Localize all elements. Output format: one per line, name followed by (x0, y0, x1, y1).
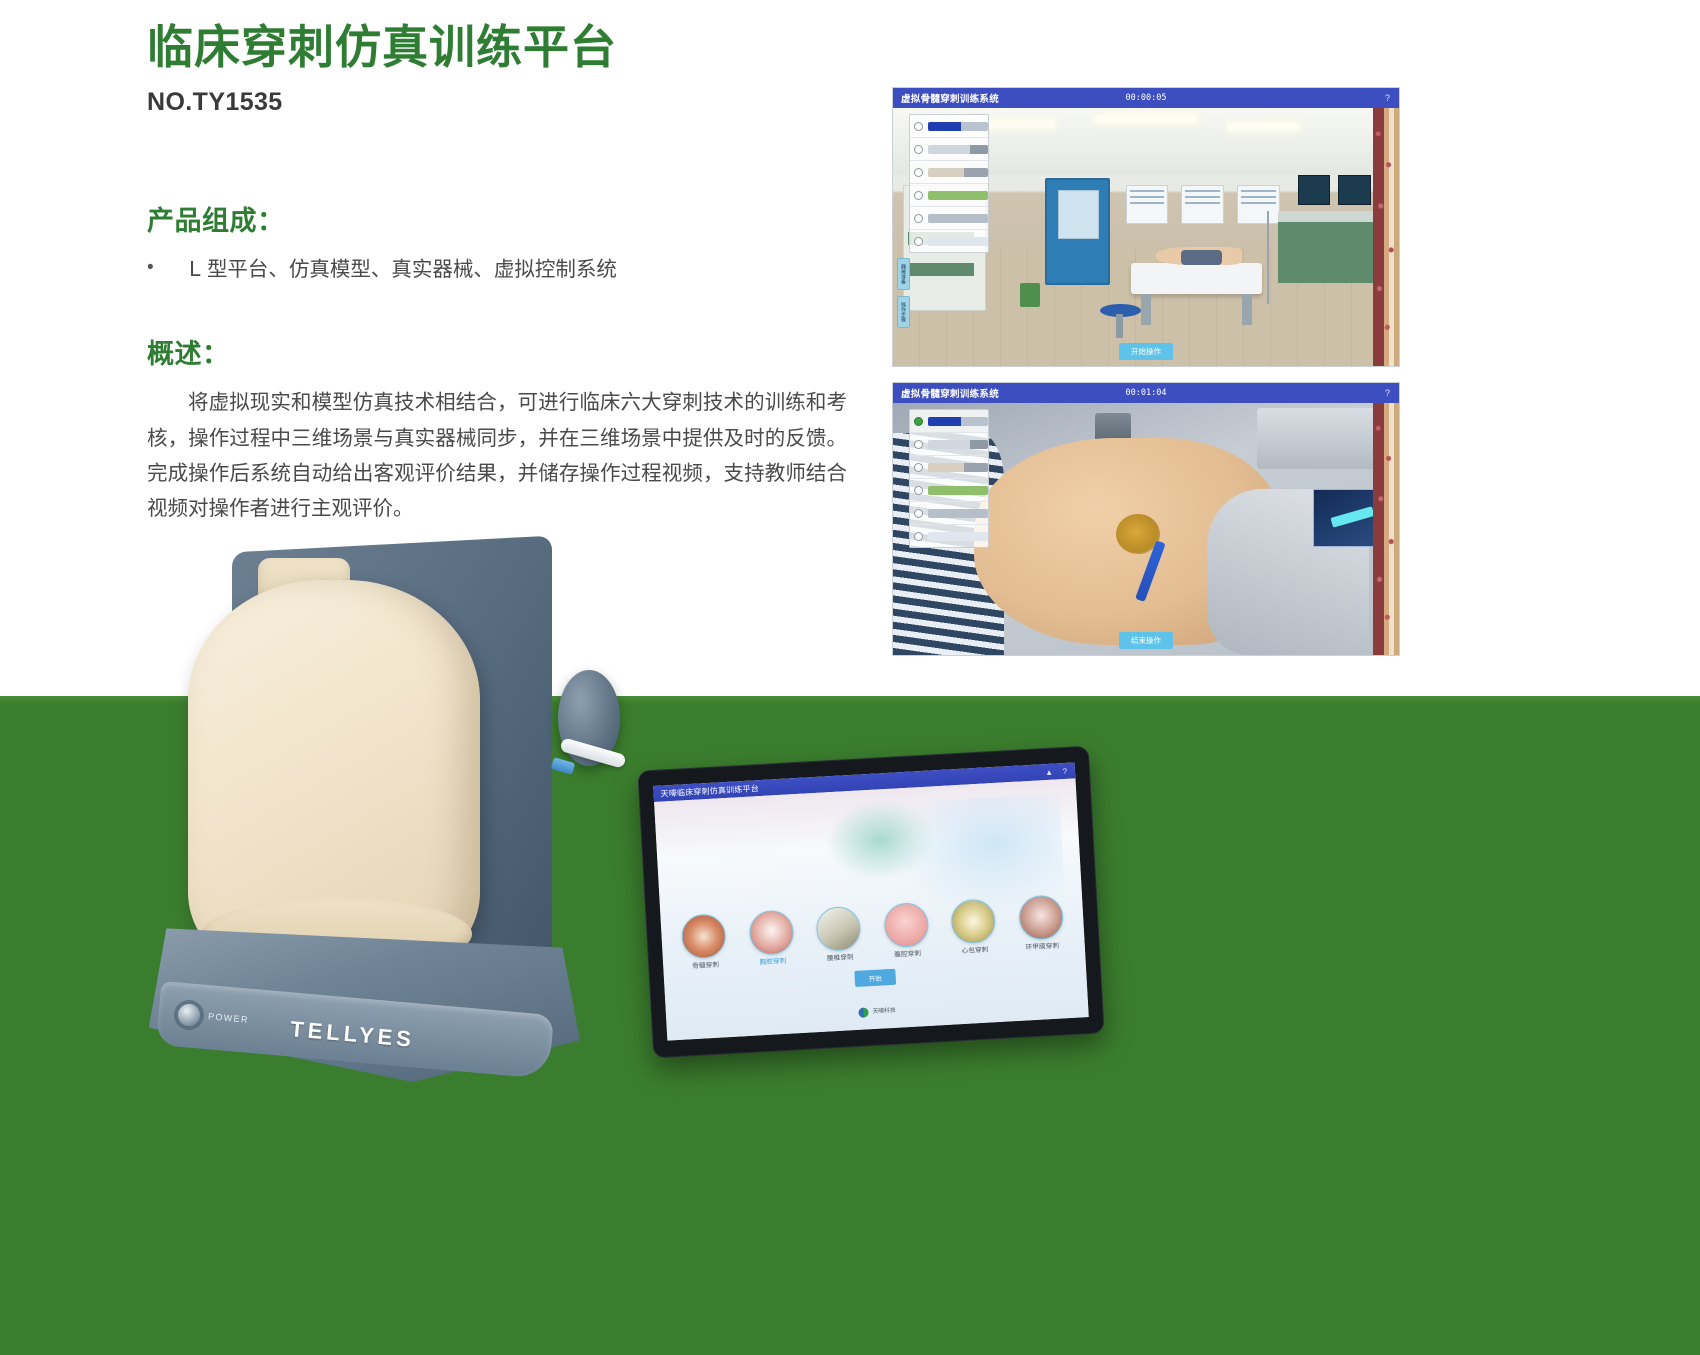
help-icon[interactable]: ? (1062, 766, 1067, 775)
palette-item-needle[interactable] (910, 410, 988, 433)
palette-item-syringe[interactable] (910, 433, 988, 456)
bone-marrow-icon (681, 913, 727, 959)
cricothyroid-icon (1018, 894, 1064, 940)
radio-icon[interactable] (914, 214, 923, 223)
vendor-logo-mark-icon (858, 1007, 869, 1018)
cabinet-shelf (908, 263, 974, 276)
start-operation-button[interactable]: 开始操作 (1119, 343, 1173, 360)
gauze-icon (928, 486, 988, 495)
bed-leg (1242, 294, 1252, 325)
wall-poster (1181, 185, 1223, 223)
bullet-marker-icon: • (147, 254, 163, 283)
radio-icon[interactable] (914, 532, 923, 541)
palette-item-forceps[interactable] (910, 502, 988, 525)
module-label: 腹腔穿刺 (878, 949, 938, 960)
software-screenshot-torso-scene: 虚拟骨髓穿刺训练系统 00:01:04 ? (893, 383, 1399, 655)
radio-icon[interactable] (914, 191, 923, 200)
patient-gown (1181, 250, 1221, 265)
radio-icon[interactable] (914, 145, 923, 154)
bed-leg (1141, 294, 1151, 325)
tissue-cross-section-strip (1373, 403, 1399, 655)
product-hardware-photo: POWER TELLYES (140, 520, 610, 1090)
drape-icon (928, 237, 988, 246)
screenshot-top-body: 器械准备 操作步骤 开始操作 (893, 108, 1399, 366)
tablet-vendor-logo: 天嚎科技 (858, 1006, 896, 1018)
ceiling-light (1095, 116, 1196, 123)
drape-icon (928, 532, 988, 541)
section-heading-composition: 产品组成： (147, 199, 867, 238)
radio-icon[interactable] (914, 122, 923, 131)
abdominal-icon (883, 902, 929, 948)
screenshot-bottom-timer: 00:01:04 (1126, 388, 1167, 398)
tissue-cross-section-strip (1373, 108, 1399, 366)
wall-poster (1126, 185, 1168, 223)
module-bone-marrow[interactable]: 骨髓穿刺 (673, 912, 735, 970)
syringe-icon (928, 440, 988, 449)
wall-poster (1237, 185, 1279, 223)
radio-icon[interactable] (914, 509, 923, 518)
module-label: 胸腔穿刺 (743, 957, 803, 968)
module-pericardial[interactable]: 心包穿刺 (942, 897, 1004, 955)
wall-monitor (1298, 175, 1330, 205)
composition-bullet-item: • L 型平台、仿真模型、真实器械、虚拟控制系统 (147, 254, 867, 285)
swab-icon (928, 463, 988, 472)
swab-icon (928, 168, 988, 177)
palette-item-swab[interactable] (910, 161, 988, 184)
tablet-screen[interactable]: 天嚎临床穿刺仿真训练平台 ▲ ? 骨髓穿刺 胸腔穿刺 腰椎穿刺 (653, 762, 1089, 1040)
iv-pole (1267, 211, 1269, 304)
background-bed (1257, 408, 1389, 468)
radio-icon[interactable] (914, 463, 923, 472)
software-screenshot-room-scene: 虚拟骨髓穿刺训练系统 00:00:05 ? (893, 88, 1399, 366)
end-operation-button[interactable]: 结束操作 (1119, 632, 1173, 649)
side-tab-steps[interactable]: 操作步骤 (897, 296, 910, 328)
screenshot-bottom-title-bar: 虚拟骨髓穿刺训练系统 00:01:04 ? (893, 383, 1399, 403)
gauze-icon (928, 191, 988, 200)
module-icon-row: 骨髓穿刺 胸腔穿刺 腰椎穿刺 腹腔穿刺 心包穿刺 (673, 894, 1072, 971)
palette-item-swab[interactable] (910, 456, 988, 479)
palette-item-drape[interactable] (910, 525, 988, 547)
palette-item-forceps[interactable] (910, 207, 988, 230)
radio-icon[interactable] (914, 168, 923, 177)
thoracic-icon (748, 909, 794, 955)
side-tab-instruments[interactable]: 器械准备 (897, 258, 910, 290)
lumbar-icon (816, 905, 862, 951)
module-abdominal[interactable]: 腹腔穿刺 (875, 901, 937, 959)
waste-bin (1020, 283, 1040, 306)
pericardial-icon (950, 898, 996, 944)
radio-icon[interactable] (914, 237, 923, 246)
palette-item-drape[interactable] (910, 230, 988, 252)
control-tablet: 天嚎临床穿刺仿真训练平台 ▲ ? 骨髓穿刺 胸腔穿刺 腰椎穿刺 (637, 746, 1104, 1059)
screenshot-bottom-body: 结束操作 (893, 403, 1399, 655)
vendor-logo-text: 天嚎科技 (872, 1008, 896, 1016)
forceps-icon (928, 214, 988, 223)
module-lumbar[interactable]: 腰椎穿刺 (808, 905, 870, 963)
instrument-palette-bottom[interactable] (909, 409, 989, 548)
instrument-palette-top[interactable] (909, 114, 989, 253)
wall-monitor (1338, 175, 1370, 205)
tablet-background-image: 骨髓穿刺 胸腔穿刺 腰椎穿刺 腹腔穿刺 心包穿刺 (654, 778, 1089, 1040)
radio-icon[interactable] (914, 417, 923, 426)
module-label: 环甲膜穿刺 (1012, 942, 1072, 953)
module-thoracic[interactable]: 胸腔穿刺 (740, 909, 802, 967)
radio-icon[interactable] (914, 486, 923, 495)
screenshot-top-title-bar: 虚拟骨髓穿刺训练系统 00:00:05 ? (893, 88, 1399, 108)
radio-icon[interactable] (914, 440, 923, 449)
page-title: 临床穿刺仿真训练平台 (147, 22, 867, 74)
help-icon[interactable]: ? (1385, 388, 1390, 398)
tablet-start-button[interactable]: 开始 (854, 969, 896, 987)
help-icon[interactable]: ? (1385, 93, 1390, 103)
screenshot-top-title: 虚拟骨髓穿刺训练系统 (893, 91, 999, 105)
needle-icon (928, 417, 988, 426)
needle-icon (928, 122, 988, 131)
screenshot-bottom-title: 虚拟骨髓穿刺训练系统 (893, 386, 999, 400)
arm-connector-tip (551, 757, 575, 775)
composition-bullet-text: L 型平台、仿真模型、真实器械、虚拟控制系统 (163, 254, 617, 285)
section-heading-overview: 概述： (147, 332, 867, 371)
module-label: 心包穿刺 (945, 945, 1005, 956)
module-label: 骨髓穿刺 (676, 960, 736, 971)
module-cricothyroid[interactable]: 环甲膜穿刺 (1010, 894, 1072, 952)
palette-item-gauze[interactable] (910, 184, 988, 207)
screenshot-top-timer: 00:00:05 (1126, 93, 1167, 103)
brochure-text-column: 临床穿刺仿真训练平台 NO.TY1535 产品组成： • L 型平台、仿真模型、… (147, 22, 867, 547)
palette-item-syringe[interactable] (910, 138, 988, 161)
module-label: 腰椎穿刺 (810, 953, 870, 964)
overview-paragraph: 将虚拟现实和模型仿真技术相结合，可进行临床六大穿刺技术的训练和考核，操作过程中三… (147, 385, 847, 526)
ceiling-light (1227, 123, 1298, 130)
forceps-icon (928, 509, 988, 518)
room-door (1045, 178, 1110, 285)
user-icon[interactable]: ▲ (1045, 767, 1053, 776)
tissue-cells (1373, 108, 1399, 366)
syringe-icon (928, 145, 988, 154)
examination-bed (1131, 263, 1263, 294)
stool-stem (1116, 314, 1124, 337)
palette-item-needle[interactable] (910, 115, 988, 138)
tissue-cells (1373, 403, 1399, 655)
model-number: NO.TY1535 (147, 88, 867, 117)
palette-item-gauze[interactable] (910, 479, 988, 502)
